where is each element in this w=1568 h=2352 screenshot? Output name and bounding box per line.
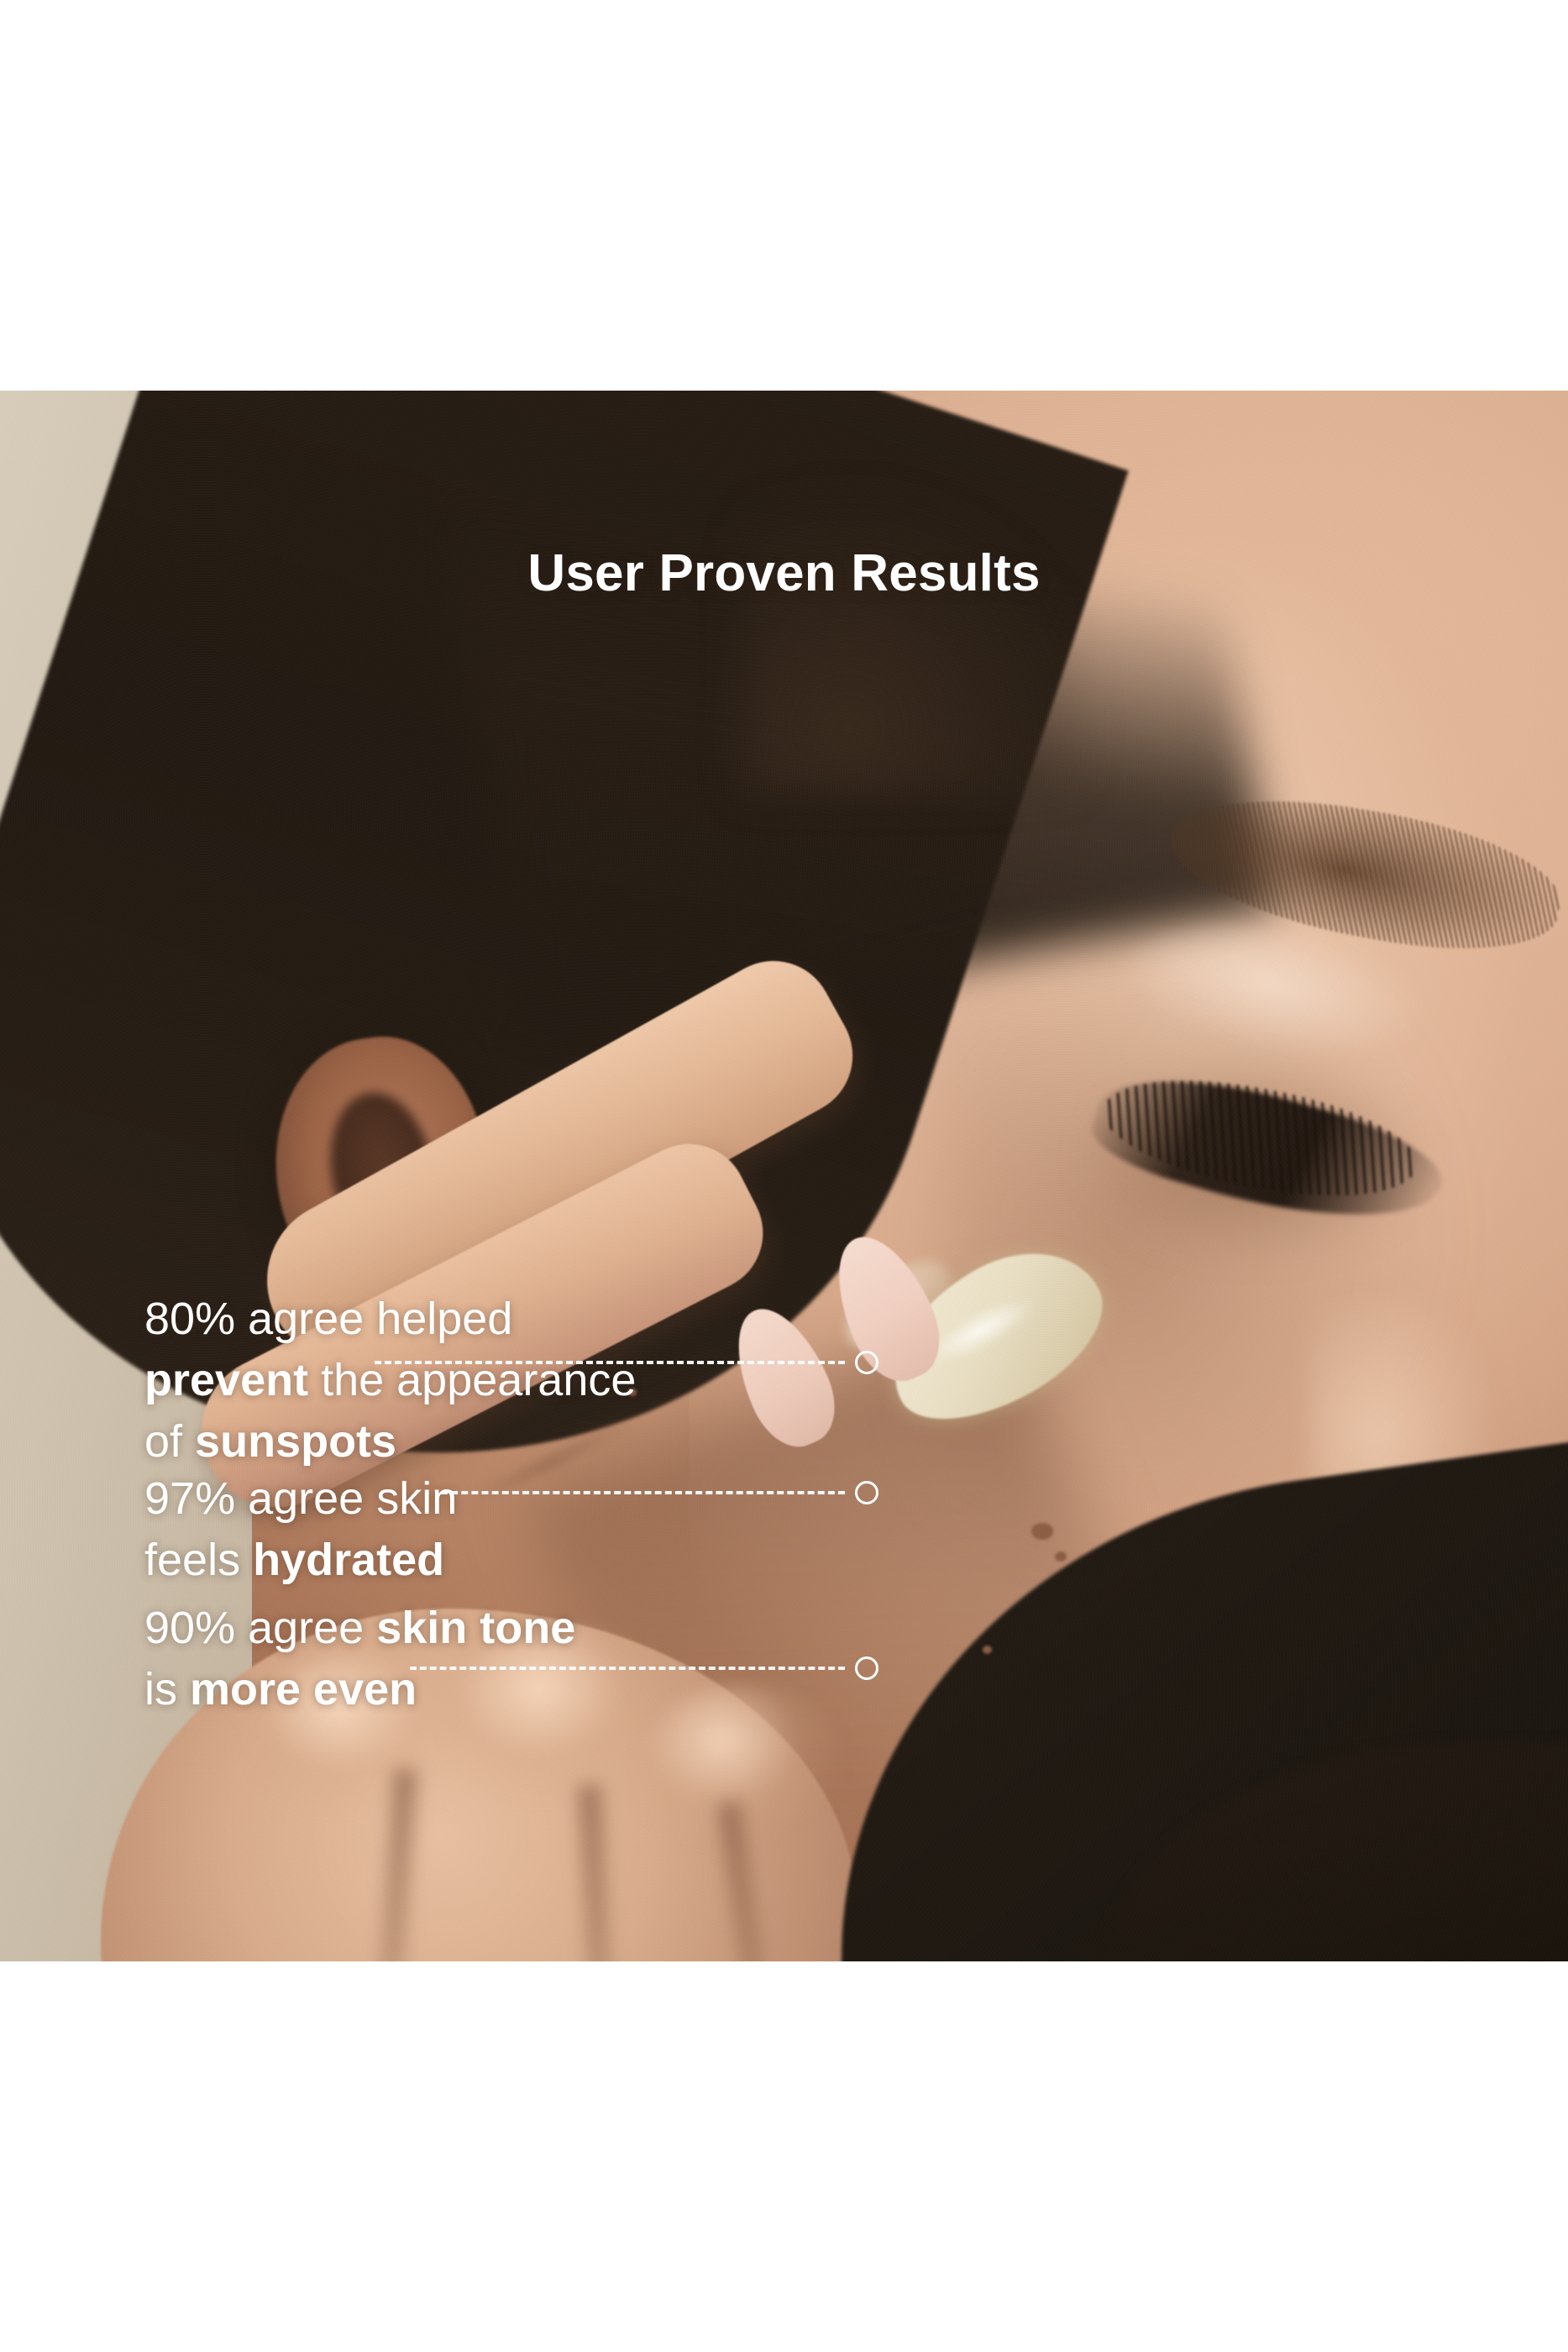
stat-text: is <box>144 1664 190 1714</box>
stat-line: of sunspots <box>144 1411 636 1473</box>
stat-emphasis: sunspots <box>195 1416 396 1467</box>
stat-text: 80% agree helped <box>144 1294 512 1344</box>
stat-line: 80% agree helped <box>144 1289 636 1350</box>
product-hero-photograph: User Proven Results 80% agree helped pre… <box>0 391 1568 1961</box>
stat-line: is more even <box>144 1659 575 1720</box>
beauty-mark <box>983 1646 992 1654</box>
stat-emphasis: hydrated <box>253 1535 444 1585</box>
stat-emphasis: more even <box>190 1664 417 1714</box>
stat-claim-sunspots: 80% agree helped prevent the appearance … <box>144 1289 636 1473</box>
stat-line: 90% agree skin tone <box>144 1598 575 1659</box>
page-title: User Proven Results <box>0 543 1568 603</box>
stat-claim-skin-tone: 90% agree skin tone is more even <box>144 1598 575 1720</box>
beauty-mark <box>1055 1551 1067 1562</box>
stat-text: the appearance <box>308 1355 636 1405</box>
marketing-image-page: User Proven Results 80% agree helped pre… <box>0 0 1568 2352</box>
stat-text: feels <box>144 1535 253 1585</box>
stat-text: 90% agree <box>144 1603 376 1653</box>
beauty-mark <box>1031 1523 1053 1540</box>
stat-emphasis: skin tone <box>376 1603 575 1653</box>
stat-line: 97% agree skin <box>144 1468 457 1530</box>
stat-emphasis: prevent <box>144 1355 308 1405</box>
stat-line: feels hydrated <box>144 1530 457 1591</box>
stat-line: prevent the appearance <box>144 1350 636 1411</box>
stat-claim-hydrated: 97% agree skin feels hydrated <box>144 1468 457 1591</box>
stat-text: of <box>144 1416 195 1467</box>
stat-text: 97% agree skin <box>144 1473 457 1524</box>
